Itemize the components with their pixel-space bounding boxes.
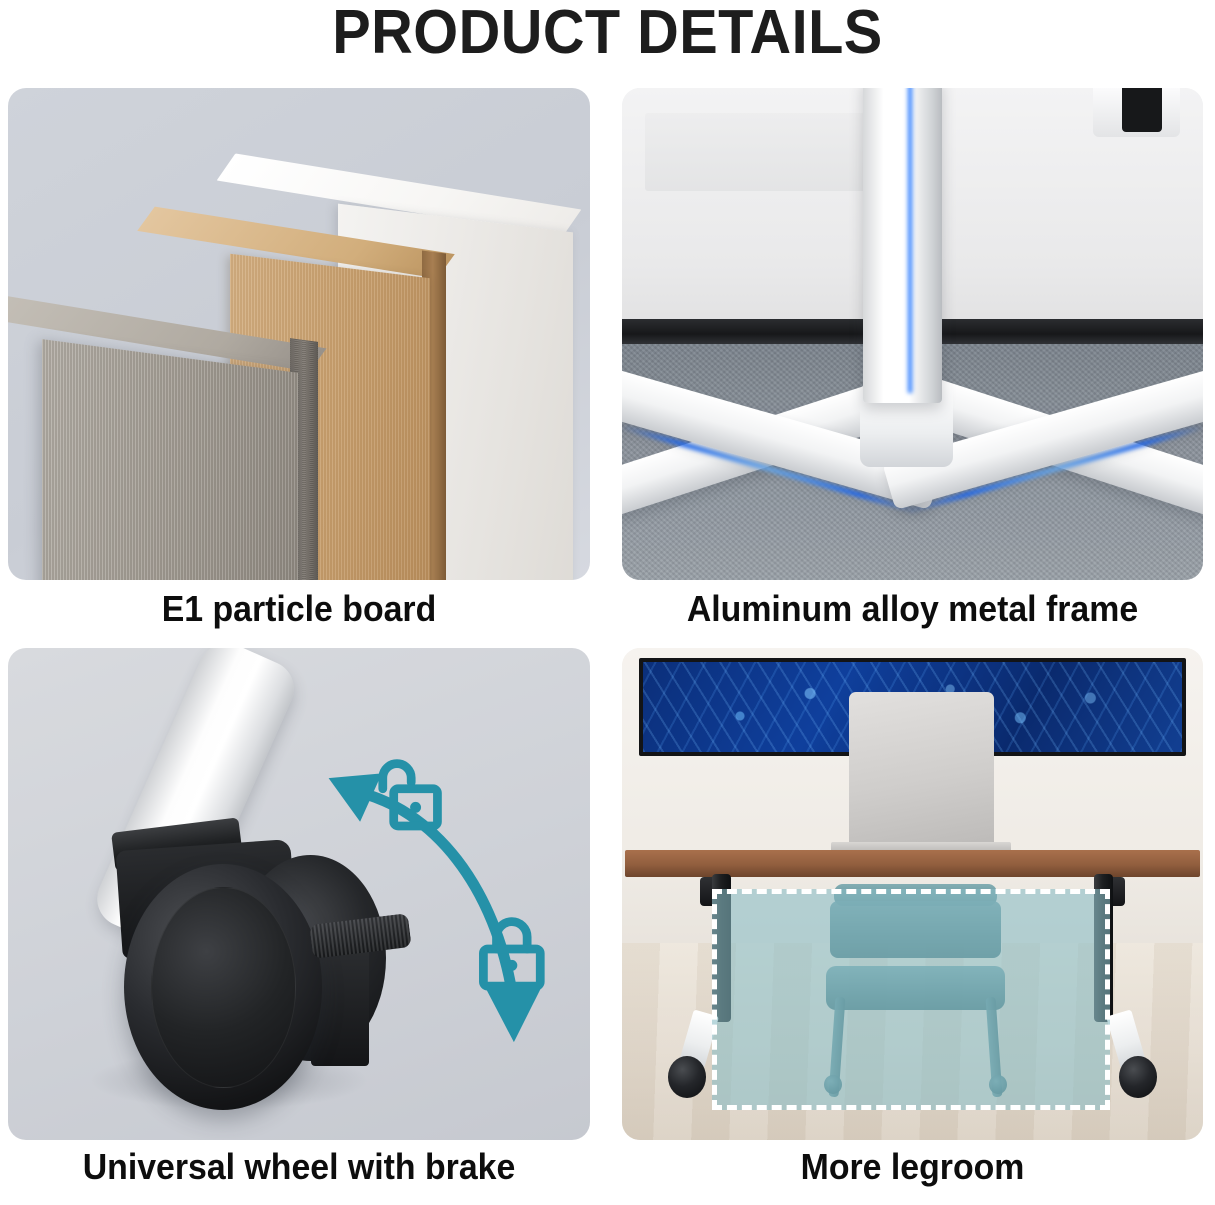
feature-cell-particle-board: E1 particle board [0, 88, 608, 648]
caption-metal-frame: Aluminum alloy metal frame [639, 588, 1185, 630]
frame-column [863, 88, 941, 403]
caption-universal-wheel: Universal wheel with brake [25, 1146, 572, 1188]
laptop [849, 692, 994, 854]
unlock-icon [369, 756, 445, 835]
product-details-infographic: PRODUCT DETAILS E1 particle board [0, 0, 1215, 1205]
column-glow [907, 88, 913, 393]
feature-grid: E1 particle board [0, 88, 1215, 1205]
lock-icon [474, 914, 550, 993]
gray-board-face [42, 339, 298, 580]
particle-board-image [8, 88, 590, 580]
table-clip [1122, 88, 1163, 132]
desk-top [625, 850, 1200, 877]
metal-frame-image [622, 88, 1203, 580]
feature-cell-more-legroom: More legroom [608, 648, 1215, 1205]
caption-more-legroom: More legroom [639, 1146, 1185, 1188]
desk-caster-right [1119, 1056, 1157, 1098]
rotation-arrow-icon [311, 737, 579, 1052]
caster-wheel-hub [151, 887, 297, 1089]
more-legroom-image [622, 648, 1203, 1140]
legroom-highlight-area [712, 889, 1110, 1110]
feature-cell-metal-frame: Aluminum alloy metal frame [608, 88, 1215, 648]
universal-wheel-image [8, 648, 590, 1140]
caption-particle-board: E1 particle board [25, 588, 572, 630]
feature-cell-universal-wheel: Universal wheel with brake [0, 648, 608, 1205]
page-title: PRODUCT DETAILS [43, 0, 1173, 70]
